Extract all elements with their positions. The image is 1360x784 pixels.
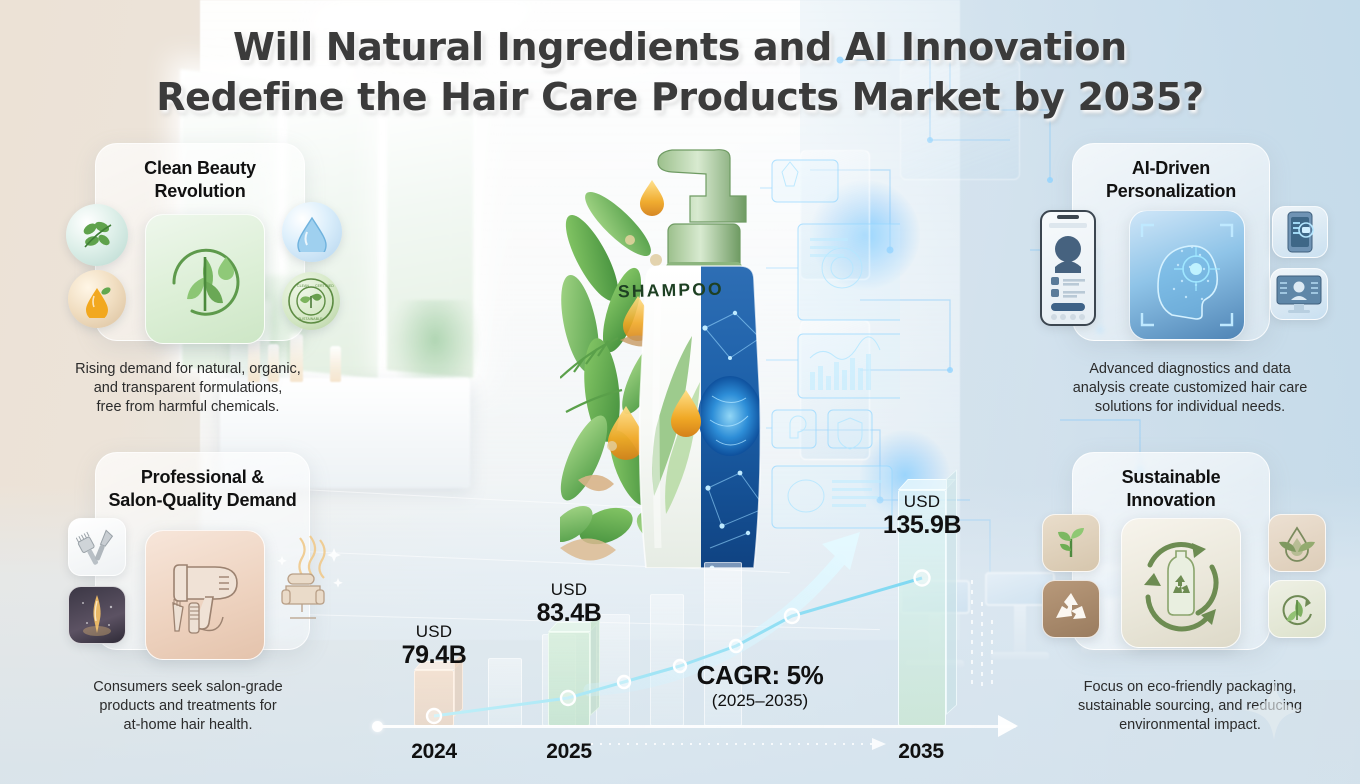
axis-start-dot — [372, 721, 383, 732]
comb-brush-icon — [68, 518, 126, 576]
card-3-icon-cluster — [1036, 204, 1326, 364]
salon-chair-icon — [272, 534, 348, 622]
value-label-2025: USD 83.4B — [499, 580, 639, 627]
hair-follicle-icon — [68, 586, 126, 644]
value-label-2035: USD 135.9B — [852, 492, 992, 539]
bottle-brand-label: SHAMPOO — [618, 279, 724, 303]
leaf-drop-icon — [1268, 514, 1326, 572]
plant-growth-icon — [145, 214, 265, 344]
value-label-2024: USD 79.4B — [364, 622, 504, 669]
axis-end-arrow — [998, 715, 1018, 737]
leaf-cycle-icon — [1268, 580, 1326, 638]
infographic-canvas: Will Natural Ingredients and AI Innovati… — [0, 0, 1360, 784]
sparkle-icon — [1244, 680, 1304, 740]
bar-side-face — [590, 613, 600, 716]
page-title: Will Natural Ingredients and AI Innovati… — [0, 22, 1360, 122]
green-certified-badge-icon: CLEANCERTIFIED SUSTAINABLE — [282, 272, 340, 330]
title-line-2: Redefine the Hair Care Products Market b… — [0, 72, 1360, 122]
chart-axis — [376, 725, 1016, 728]
svg-text:CLEAN: CLEAN — [297, 284, 309, 288]
desktop-profile-icon — [1270, 268, 1328, 320]
smartphone-profile-icon — [1040, 210, 1096, 326]
card-4-icon-cluster — [1036, 514, 1326, 674]
x-tick-2024: 2024 — [379, 740, 489, 764]
bar-2024 — [414, 670, 454, 726]
card-title: AI-Driven Personalization — [1073, 144, 1269, 203]
hair-dryer-icon — [145, 530, 265, 660]
svg-text:SUSTAINABLE: SUSTAINABLE — [298, 317, 323, 321]
mobile-scan-icon — [1272, 206, 1328, 258]
card-1-description: Rising demand for natural, organic, and … — [38, 360, 338, 417]
leaf-sphere-icon — [66, 204, 128, 266]
x-tick-2025: 2025 — [514, 740, 624, 764]
market-growth-chart: USD 79.4B USD 83.4B USD 135.9B CAGR: 5% … — [376, 470, 1016, 770]
water-drop-sphere-icon — [282, 202, 342, 262]
card-2-icon-cluster — [60, 518, 350, 678]
title-line-1: Will Natural Ingredients and AI Innovati… — [0, 22, 1360, 72]
card-title: Professional & Salon-Quality Demand — [96, 453, 309, 512]
card-title: Sustainable Innovation — [1073, 453, 1269, 512]
seedling-soil-icon — [1042, 514, 1100, 572]
recycle-icon — [1042, 580, 1100, 638]
oil-drop-sphere-icon — [68, 270, 126, 328]
ai-head-scan-icon — [1129, 210, 1245, 340]
cagr-annotation: CAGR: 5% (2025–2035) — [660, 660, 860, 712]
card-3-description: Advanced diagnostics and data analysis c… — [1030, 360, 1350, 417]
x-tick-2035: 2035 — [866, 740, 976, 764]
card-1-icon-cluster: CLEANCERTIFIED SUSTAINABLE — [60, 202, 350, 362]
svg-text:CERTIFIED: CERTIFIED — [315, 284, 334, 288]
recycle-bottle-icon — [1121, 518, 1241, 648]
card-2-description: Consumers seek salon-grade products and … — [38, 678, 338, 735]
bar-2025 — [548, 632, 590, 726]
ghost-bar — [596, 614, 630, 726]
card-title: Clean Beauty Revolution — [96, 144, 304, 203]
